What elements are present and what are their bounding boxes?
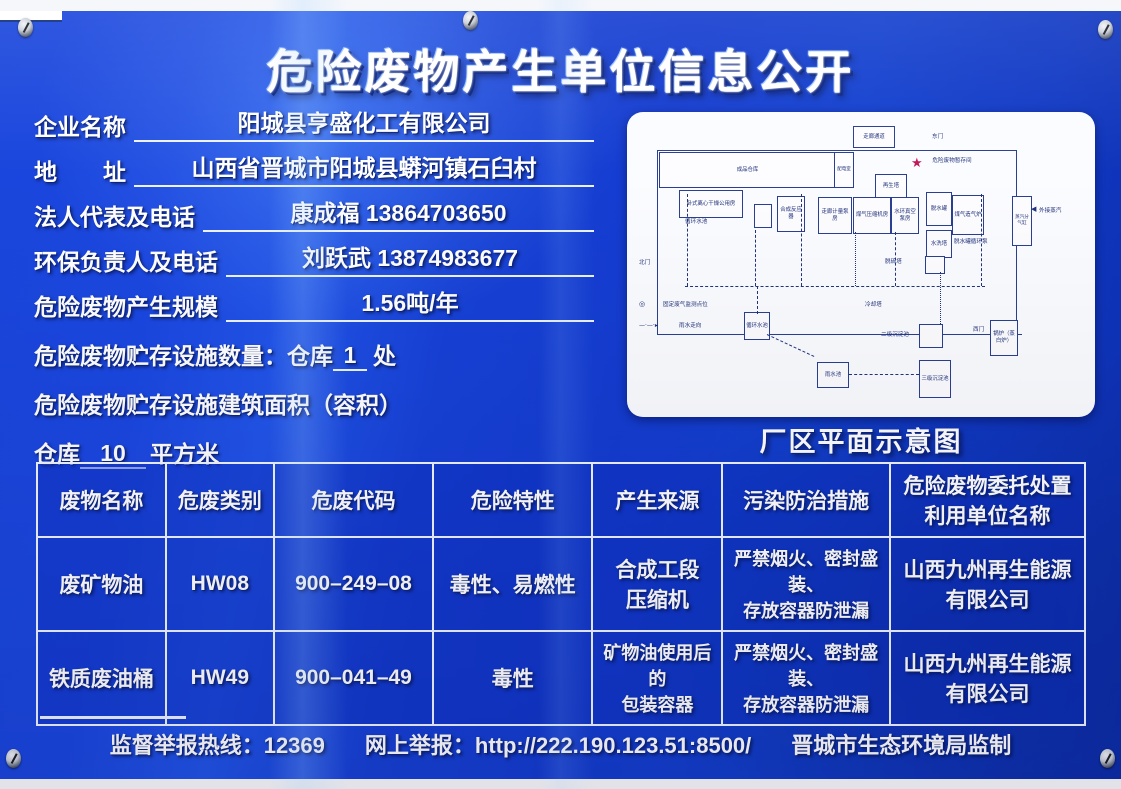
screw-top-left bbox=[18, 18, 33, 37]
plan-flow-7 bbox=[940, 272, 941, 324]
plan-legend-symbol-2: —·—·▸ bbox=[639, 322, 658, 330]
info-row-legal-rep: 法人代表及电话 康成福 13864703650 bbox=[34, 202, 594, 232]
info-value-scale: 1.56吨/年 bbox=[226, 284, 594, 322]
plan-block-third-settle: 三级沉淀池 bbox=[919, 360, 951, 398]
board-bottom-edge bbox=[0, 779, 1121, 789]
page-title: 危险废物产生单位信息公开 bbox=[0, 36, 1121, 102]
plan-label-second-settle: 二级沉淀池 bbox=[881, 332, 909, 339]
table-row: 铁质废油桶 HW49 900–041–49 毒性 矿物油使用后的 包装容器 严禁… bbox=[37, 631, 1085, 725]
cell-waste-name: 铁质废油桶 bbox=[37, 631, 166, 725]
plan-block-gas-compressor: 煤气压缩机房 bbox=[853, 197, 891, 234]
footer-online-report: 网上举报：http://222.190.123.51:8500/ bbox=[365, 728, 751, 760]
info-row-facility-area-line1: 危险废物贮存设施建筑面积（容积） bbox=[34, 386, 594, 420]
info-row-facility-count: 危险废物贮存设施数量：仓库1处 bbox=[34, 337, 594, 371]
table-row: 废矿物油 HW08 900–249–08 毒性、易燃性 合成工段 压缩机 严禁烟… bbox=[37, 537, 1085, 631]
sign-board: 危险废物产生单位信息公开 企业名称 阳城县亨盛化工有限公司 地 址 山西省晋城市… bbox=[0, 0, 1121, 789]
plan-label-desulfur: 脱硫塔 bbox=[885, 259, 902, 266]
cell-control-line2: 存放容器防泄漏 bbox=[726, 691, 886, 717]
plan-boundary-bottom bbox=[657, 334, 1022, 335]
footer-hotline: 监督举报热线：12369 bbox=[110, 728, 325, 760]
plan-gate-east: 东门 bbox=[932, 134, 943, 141]
waste-table: 废物名称 危废类别 危废代码 危险特性 产生来源 污染防治措施 危险废物委托处置… bbox=[36, 462, 1086, 710]
plan-block-corridor: 走廊通道 bbox=[853, 126, 895, 148]
plan-flow-10 bbox=[767, 334, 815, 357]
plan-block-power-room: 配电室 bbox=[834, 152, 854, 188]
plan-block-circ-pool-2: 循环水池 bbox=[744, 312, 770, 340]
cell-waste-name: 废矿物油 bbox=[37, 537, 166, 631]
company-info-block: 企业名称 阳城县亨盛化工有限公司 地 址 山西省晋城市阳城县蟒河镇石臼村 法人代… bbox=[34, 112, 594, 484]
plan-label-circ-pool-1: 循环水池 bbox=[685, 219, 707, 226]
footer-issuer: 晋城市生态环境局监制 bbox=[791, 728, 1011, 760]
info-row-scale: 危险废物产生规模 1.56吨/年 bbox=[34, 292, 594, 322]
cell-disposer-line1: 山西九州再生能源 bbox=[894, 648, 1081, 678]
info-value-env-officer: 刘跃武 13874983677 bbox=[226, 239, 594, 277]
screw-top-center bbox=[463, 11, 478, 30]
info-label-company: 企业名称 bbox=[34, 108, 126, 142]
cell-source: 合成工段 压缩机 bbox=[592, 537, 722, 631]
facility-area-label: 危险废物贮存设施建筑面积（容积） bbox=[34, 386, 402, 420]
plan-flow-3 bbox=[801, 194, 802, 286]
facility-count-suffix: 处 bbox=[373, 337, 396, 371]
plan-star-marker: ★ bbox=[911, 156, 923, 169]
cell-waste-category: HW49 bbox=[166, 631, 274, 725]
cell-disposer: 山西九州再生能源 有限公司 bbox=[890, 631, 1085, 725]
header-source: 产生来源 bbox=[592, 463, 722, 537]
plan-block-gas-furnace: 煤气造气炉 bbox=[952, 195, 984, 235]
cell-waste-code: 900–041–49 bbox=[274, 631, 433, 725]
site-plan-caption: 厂区平面示意图 bbox=[627, 420, 1095, 459]
cell-hazard-property: 毒性、易燃性 bbox=[433, 537, 592, 631]
plan-block-second-settle bbox=[919, 324, 943, 348]
cell-control-measures: 严禁烟火、密封盛装、 存放容器防泄漏 bbox=[722, 537, 890, 631]
plan-flow-2 bbox=[755, 230, 756, 286]
cell-disposer-line2: 有限公司 bbox=[894, 584, 1081, 614]
plan-block-rain-pool: 雨水池 bbox=[817, 362, 849, 388]
info-row-address: 地 址 山西省晋城市阳城县蟒河镇石臼村 bbox=[34, 157, 594, 187]
cell-source-line1: 合成工段 bbox=[596, 554, 718, 584]
header-hazard-property: 危险特性 bbox=[433, 463, 592, 537]
cell-waste-code: 900–249–08 bbox=[274, 537, 433, 631]
info-row-env-officer: 环保负责人及电话 刘跃武 13874983677 bbox=[34, 247, 594, 277]
info-label-scale: 危险废物产生规模 bbox=[34, 288, 218, 322]
table-header-row: 废物名称 危废类别 危废代码 危险特性 产生来源 污染防治措施 危险废物委托处置… bbox=[37, 463, 1085, 537]
cell-hazard-property: 毒性 bbox=[433, 631, 592, 725]
plan-flow-9 bbox=[849, 374, 919, 375]
plan-block-vacuum-pump: 水环真空泵房 bbox=[891, 197, 919, 234]
cell-control-line2: 存放容器防泄漏 bbox=[726, 597, 886, 623]
plan-block-regen-tower: 再生塔 bbox=[875, 174, 907, 198]
plan-arrow-steam: ◀ bbox=[1031, 206, 1036, 213]
plan-legend-text-1: 固定废气监测点位 bbox=[663, 302, 708, 309]
cell-control-line1: 严禁烟火、密封盛装、 bbox=[726, 639, 886, 691]
plan-flow-4 bbox=[855, 232, 856, 286]
site-plan-image: 走廊通道 东门 成品仓库 配电室 ★ 危险废物暂存间 再生塔 卧式离心干燥公用房… bbox=[627, 112, 1095, 417]
board-top-edge bbox=[0, 0, 1121, 11]
facility-count-value: 1 bbox=[333, 342, 367, 371]
plan-block-steam-cylinder: 蒸汽分气缸 bbox=[1012, 196, 1032, 246]
plan-boundary-top bbox=[657, 150, 1017, 151]
cell-disposer-line1: 山西九州再生能源 bbox=[894, 554, 1081, 584]
plan-label-dehydrator-pump: 脱水罐循环泵 bbox=[954, 239, 988, 246]
info-row-company: 企业名称 阳城县亨盛化工有限公司 bbox=[34, 112, 594, 142]
plan-star-label: 危险废物暂存间 bbox=[927, 158, 977, 165]
cell-disposer: 山西九州再生能源 有限公司 bbox=[890, 537, 1085, 631]
table-underline bbox=[40, 716, 186, 719]
plan-flow-5 bbox=[895, 232, 896, 286]
footer-bar: 监督举报热线：12369 网上举报：http://222.190.123.51:… bbox=[0, 728, 1121, 760]
cell-source-line1: 矿物油使用后的 bbox=[596, 639, 718, 691]
info-value-legal-rep: 康成福 13864703650 bbox=[203, 194, 594, 232]
site-plan-canvas: 走廊通道 东门 成品仓库 配电室 ★ 危险废物暂存间 再生塔 卧式离心干燥公用房… bbox=[627, 112, 1095, 417]
plan-label-external-steam: 外接蒸汽 bbox=[1039, 208, 1061, 215]
header-waste-category: 危废类别 bbox=[166, 463, 274, 537]
plan-block-junction bbox=[925, 256, 945, 274]
plan-block-centrifuge: 卧式离心干燥公用房 bbox=[679, 190, 743, 218]
facility-count-prefix: 危险废物贮存设施数量：仓库 bbox=[34, 337, 333, 371]
plan-block-pump-room: 走廊计量泵房 bbox=[818, 197, 852, 234]
plan-legend-text-2: 雨水走向 bbox=[679, 323, 701, 330]
cell-source: 矿物油使用后的 包装容器 bbox=[592, 631, 722, 725]
cell-control-measures: 严禁烟火、密封盛装、 存放容器防泄漏 bbox=[722, 631, 890, 725]
plan-block-small-tank bbox=[754, 204, 772, 228]
info-label-env-officer: 环保负责人及电话 bbox=[34, 243, 218, 277]
plan-legend-symbol-1: ◎ bbox=[639, 300, 645, 309]
info-value-address: 山西省晋城市阳城县蟒河镇石臼村 bbox=[134, 149, 594, 187]
info-value-company: 阳城县亨盛化工有限公司 bbox=[134, 104, 594, 142]
plan-flow-6 bbox=[981, 194, 982, 286]
info-label-address: 地 址 bbox=[34, 153, 126, 187]
header-disposer-line1: 危险废物委托处置 bbox=[894, 470, 1081, 500]
header-waste-code: 危废代码 bbox=[274, 463, 433, 537]
header-disposer-line2: 利用单位名称 bbox=[894, 500, 1081, 530]
info-label-legal-rep: 法人代表及电话 bbox=[34, 198, 195, 232]
cell-source-line2: 压缩机 bbox=[596, 584, 718, 614]
header-waste-name: 废物名称 bbox=[37, 463, 166, 537]
header-disposer: 危险废物委托处置 利用单位名称 bbox=[890, 463, 1085, 537]
header-control-measures: 污染防治措施 bbox=[722, 463, 890, 537]
cell-source-line2: 包装容器 bbox=[596, 691, 718, 717]
plan-block-warehouse: 成品仓库 bbox=[659, 152, 836, 188]
plan-label-cooling-tower: 冷却塔 bbox=[865, 302, 882, 309]
plan-gate-west: 西门 bbox=[973, 327, 984, 334]
cell-disposer-line2: 有限公司 bbox=[894, 678, 1081, 708]
plan-block-boiler: 锅炉（蒸白炉） bbox=[990, 320, 1018, 356]
plan-flow-1 bbox=[687, 194, 688, 286]
cell-waste-category: HW08 bbox=[166, 537, 274, 631]
plan-gate-north: 北门 bbox=[639, 260, 650, 267]
cell-control-line1: 严禁烟火、密封盛装、 bbox=[726, 545, 886, 597]
plan-boundary-left bbox=[657, 150, 658, 335]
plan-flow-8 bbox=[757, 286, 758, 314]
plan-block-dehydrator: 脱水罐 bbox=[926, 192, 952, 226]
plan-block-wash-tower: 水洗塔 bbox=[926, 230, 952, 258]
